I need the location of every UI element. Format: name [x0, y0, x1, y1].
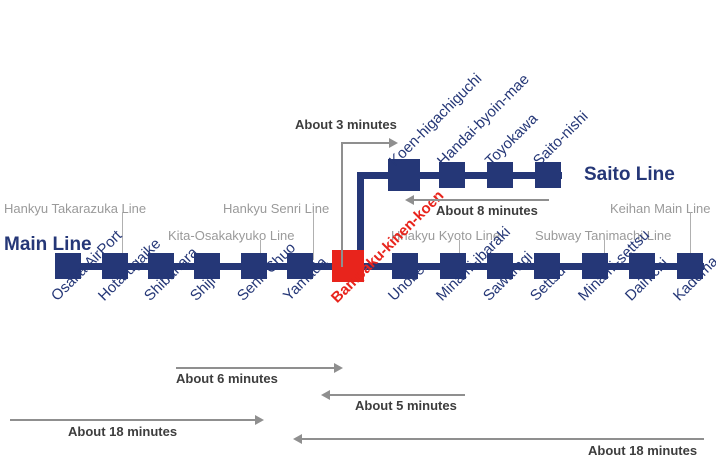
arrow-18min-right-head — [293, 434, 302, 444]
connecting-line-label: Kita-Osakakyuko Line — [168, 228, 294, 243]
time-label-3min: About 3 minutes — [295, 117, 397, 132]
arrow-3min-vertical — [341, 142, 343, 267]
arrow-3min-horizontal — [341, 142, 389, 144]
connecting-line-label: Hankyu Takarazuka Line — [4, 201, 146, 216]
time-label-8min: About 8 minutes — [436, 203, 538, 218]
arrow-8min-line — [414, 199, 549, 201]
arrow-8min-head — [405, 195, 414, 205]
arrow-6min-head — [334, 363, 343, 373]
arrow-18min-left-head — [255, 415, 264, 425]
time-label-18min-left: About 18 minutes — [68, 424, 177, 439]
arrow-3min-head — [389, 138, 398, 148]
arrow-6min-line — [176, 367, 334, 369]
station-label-saito-nishi: Saito-nishi — [530, 108, 592, 170]
time-label-6min: About 6 minutes — [176, 371, 278, 386]
arrow-5min-line — [330, 394, 465, 396]
connecting-line-label: Keihan Main Line — [610, 201, 710, 216]
time-label-18min-right: About 18 minutes — [588, 443, 697, 458]
arrow-18min-left-line — [10, 419, 255, 421]
time-label-5min: About 5 minutes — [355, 398, 457, 413]
railway-route-diagram: Main Line Saito Line Hankyu Takarazuka L… — [0, 0, 716, 462]
connecting-line-tick — [313, 212, 314, 260]
saito-line-title: Saito Line — [584, 164, 675, 186]
arrow-18min-right-line — [302, 438, 704, 440]
arrow-5min-head — [321, 390, 330, 400]
